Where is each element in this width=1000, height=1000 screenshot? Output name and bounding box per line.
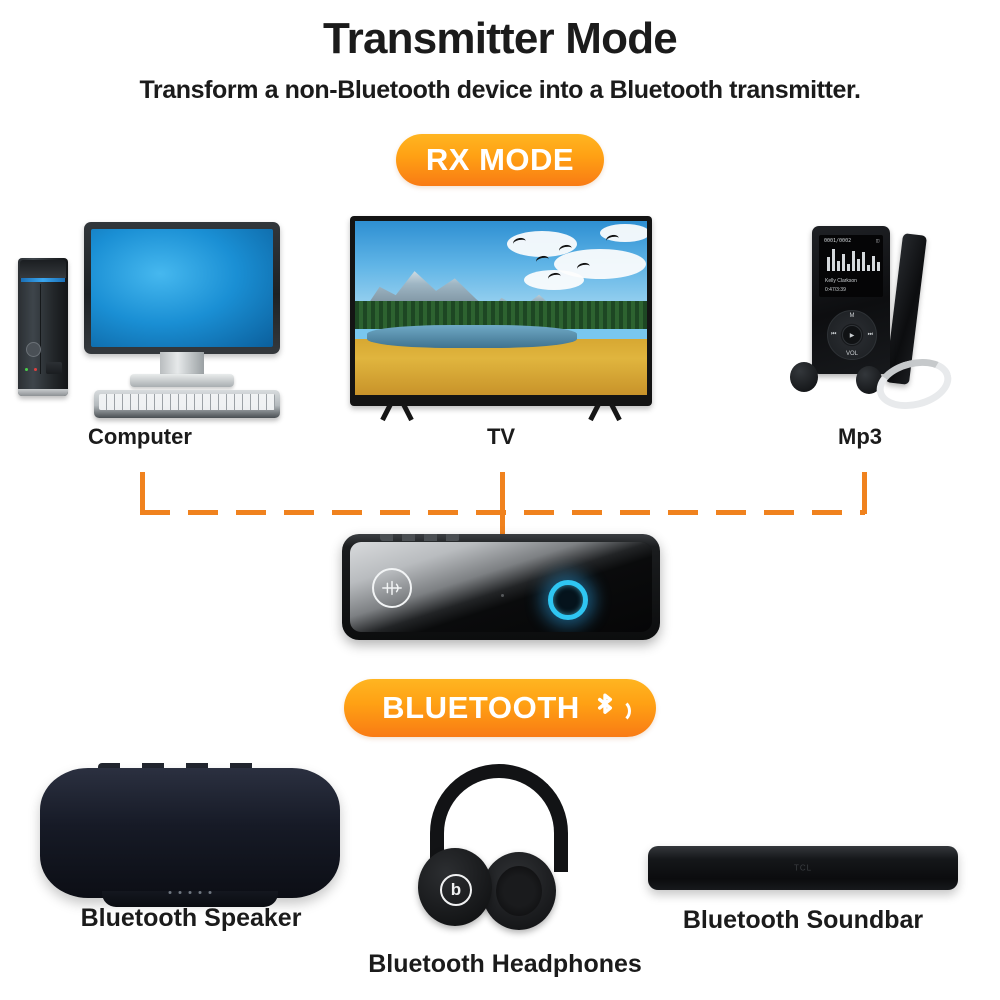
rx-mode-badge[interactable]: RX MODE xyxy=(396,134,604,186)
keyboard-keys xyxy=(99,394,275,410)
tower-top-panel xyxy=(20,260,66,278)
adapter-face xyxy=(350,542,652,632)
tower-seam xyxy=(40,284,41,374)
wheel-play-icon[interactable]: ▶ xyxy=(842,325,862,345)
monitor-screen xyxy=(91,229,273,347)
tower-led-red xyxy=(34,368,37,371)
earbud-left xyxy=(790,362,818,392)
page-title: Transmitter Mode xyxy=(0,14,1000,64)
mp3-player-icon: 0001/0002 ◫ Kelly Clarkson 0:47/3:39 M ⏮… xyxy=(784,226,944,408)
soundbar-icon: TCL xyxy=(648,846,958,890)
headphone-cup-right xyxy=(482,852,556,930)
headphone-brand-logo-icon: b xyxy=(440,874,472,906)
portable-speaker-icon xyxy=(40,768,340,898)
keyboard xyxy=(94,390,280,418)
connector-line-to-adapter xyxy=(500,514,505,536)
monitor xyxy=(84,222,280,354)
tv-legs xyxy=(350,402,652,420)
label-computer: Computer xyxy=(40,424,240,450)
mp3-control-wheel[interactable]: M ⏮ ⏭ VOL ▶ xyxy=(827,310,877,360)
soundbar-body: TCL xyxy=(648,846,958,890)
headphone-cup-left: b xyxy=(418,848,492,926)
brand-logo-icon xyxy=(372,568,412,608)
tower-led-green xyxy=(25,368,28,371)
battery-icon: ◫ xyxy=(876,238,879,244)
connector-line-tv xyxy=(500,472,505,514)
adapter-buttons[interactable] xyxy=(380,534,460,541)
tower-base xyxy=(18,389,68,396)
label-bluetooth-soundbar: Bluetooth Soundbar xyxy=(648,906,958,935)
wheel-next-icon[interactable]: ⏭ xyxy=(868,332,873,339)
connector-line-mp3 xyxy=(862,472,867,514)
connector-line-computer xyxy=(140,472,145,514)
bluetooth-signal-arc xyxy=(612,699,631,723)
power-button-icon xyxy=(26,342,41,357)
wheel-volume-label[interactable]: VOL xyxy=(846,351,858,357)
page-subtitle: Transform a non-Bluetooth device into a … xyxy=(0,76,1000,105)
tv-screen xyxy=(355,221,647,395)
infographic-canvas: Transmitter Mode Transform a non-Bluetoo… xyxy=(0,0,1000,1000)
label-mp3: Mp3 xyxy=(760,424,960,450)
adapter-status-led xyxy=(548,580,588,620)
bluetooth-label: BLUETOOTH xyxy=(382,690,580,726)
label-tv: TV xyxy=(401,424,601,450)
desktop-computer-icon xyxy=(18,222,280,418)
tv-frame xyxy=(350,216,652,406)
monitor-neck xyxy=(160,352,204,376)
headphones-icon: b xyxy=(418,764,588,926)
bluetooth-icon xyxy=(592,691,618,725)
rx-mode-label: RX MODE xyxy=(426,142,574,178)
mp3-time: 0:47/3:39 xyxy=(825,287,846,293)
pc-tower xyxy=(18,258,68,396)
bluetooth-adapter[interactable] xyxy=(342,534,660,640)
tower-accent-strip xyxy=(21,278,65,282)
adapter-microphone-dot xyxy=(501,594,504,597)
label-bluetooth-speaker: Bluetooth Speaker xyxy=(36,904,346,933)
wheel-menu-label[interactable]: M xyxy=(850,313,855,319)
tv-leg-right xyxy=(586,404,624,420)
speaker-body xyxy=(40,768,340,898)
mp3-body: 0001/0002 ◫ Kelly Clarkson 0:47/3:39 M ⏮… xyxy=(812,226,890,374)
mp3-artist: Kelly Clarkson xyxy=(825,278,857,284)
mp3-screen: 0001/0002 ◫ Kelly Clarkson 0:47/3:39 xyxy=(819,235,883,297)
mp3-track-counter: 0001/0002 xyxy=(824,238,851,244)
tower-ports xyxy=(46,362,62,374)
soundbar-brand-logo: TCL xyxy=(794,864,812,873)
speaker-battery-leds xyxy=(169,891,212,894)
wheel-prev-icon[interactable]: ⏮ xyxy=(831,332,836,339)
tv-leg-left xyxy=(378,404,416,420)
headphone-pad-right xyxy=(496,866,542,916)
bluetooth-badge[interactable]: BLUETOOTH xyxy=(344,679,656,737)
television-icon xyxy=(350,216,652,406)
mp3-status-bar: 0001/0002 ◫ xyxy=(824,237,879,244)
mp3-equalizer xyxy=(827,247,880,271)
tv-lake xyxy=(367,325,577,348)
label-bluetooth-headphones: Bluetooth Headphones xyxy=(350,950,660,979)
monitor-foot xyxy=(130,374,234,387)
